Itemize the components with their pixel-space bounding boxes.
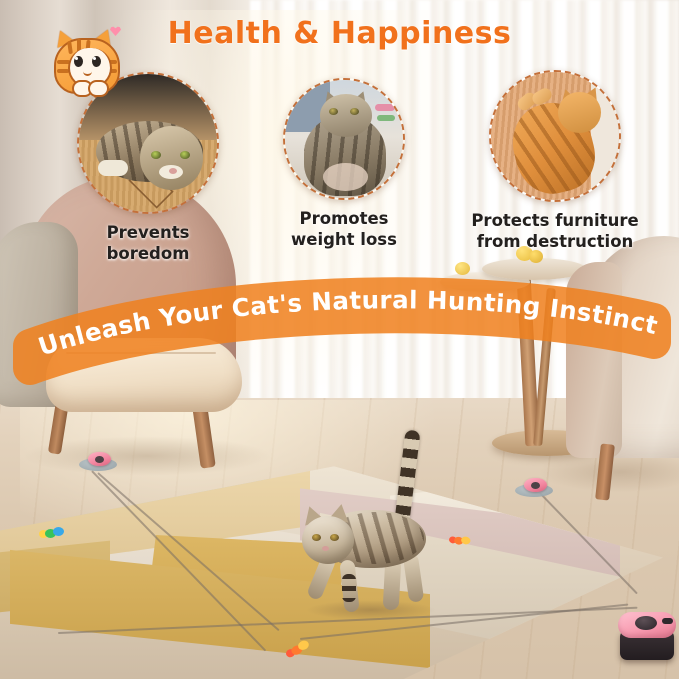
cat-nose — [322, 546, 329, 551]
photo-fat-cat — [285, 80, 403, 198]
banner-ribbon: Unleash Your Cat's Natural Hunting Insti… — [8, 268, 672, 388]
feature-image-3 — [489, 70, 621, 202]
cartoon-kitten-mascot — [48, 24, 126, 98]
feature-promotes-weight-loss: Promotes weight loss — [252, 78, 436, 250]
cat-leg-stripes — [342, 574, 356, 602]
anchor-knob — [95, 456, 104, 463]
cat-tail — [394, 429, 420, 522]
hero-banner: Unleash Your Cat's Natural Hunting Insti… — [8, 268, 672, 388]
cat-eye — [312, 534, 321, 541]
cat-eye — [330, 534, 339, 541]
walking-cat-photo — [288, 424, 448, 614]
anchor-knob — [531, 482, 540, 489]
product-base-unit[interactable] — [618, 608, 679, 666]
feature-image-2 — [283, 78, 405, 200]
cat-head — [302, 516, 354, 564]
feature-caption-2: Promotes weight loss — [252, 209, 436, 250]
cat-shadow — [306, 600, 436, 620]
mascot-paw — [88, 80, 109, 97]
toy-bead — [53, 527, 64, 536]
feature-prevents-boredom: Prevents boredom — [48, 72, 248, 264]
photo-scratching-cat — [491, 72, 619, 200]
feature-protects-furniture: Protects furniture from destruction — [440, 70, 670, 252]
base-port — [662, 618, 673, 624]
base-dial — [635, 616, 657, 630]
feature-caption-3: Protects furniture from destruction — [440, 211, 670, 252]
infographic-canvas: Health & Happiness Prevents boredom — [0, 0, 679, 679]
feature-caption-1: Prevents boredom — [48, 223, 248, 264]
